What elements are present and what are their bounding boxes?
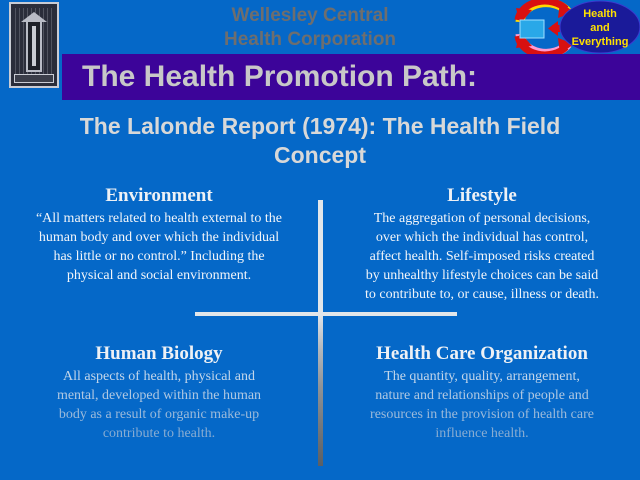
quadrant-body-line: body as a result of organic make-up	[6, 405, 312, 424]
quadrant-body-health-care-organization: The quantity, quality, arrangement, natu…	[330, 367, 634, 443]
slide-canvas: Wellesley Central Health Corporation	[0, 0, 640, 480]
quadrant-title-human-biology: Human Biology	[6, 342, 312, 365]
quadrant-title-environment: Environment	[6, 184, 312, 207]
quadrant-body-human-biology: All aspects of health, physical and ment…	[6, 367, 312, 443]
quadrant-body-line: resources in the provision of health car…	[330, 405, 634, 424]
quadrant-divider-vertical-upper	[318, 200, 323, 316]
slide-title: The Health Promotion Path:	[82, 58, 477, 96]
institutional-crest-icon	[9, 2, 59, 88]
quadrant-divider-vertical-lower	[318, 316, 323, 466]
quadrant-body-line: affect health. Self-imposed risks create…	[330, 247, 634, 266]
quadrant-body-environment: “All matters related to health external …	[6, 209, 312, 285]
quadrant-body-lifestyle: The aggregation of personal decisions, o…	[330, 209, 634, 304]
quadrant-body-line: by unhealthy lifestyle choices can be sa…	[330, 266, 634, 285]
quadrant-body-line: nature and relationships of people and	[330, 386, 634, 405]
crest-banner-shape	[14, 74, 54, 83]
slide-subtitle: The Lalonde Report (1974): The Health Fi…	[18, 112, 622, 170]
organization-name: Wellesley Central Health Corporation	[150, 4, 470, 52]
quadrant-body-line: All aspects of health, physical and	[6, 367, 312, 386]
crest-column-shape	[26, 20, 42, 72]
quadrant-body-line: physical and social environment.	[6, 266, 312, 285]
quadrant-lifestyle: Lifestyle The aggregation of personal de…	[330, 184, 634, 304]
quadrant-body-line: has little or no control.” Including the	[6, 247, 312, 266]
quadrant-body-line: The quantity, quality, arrangement,	[330, 367, 634, 386]
quadrant-body-line: over which the individual has control,	[330, 228, 634, 247]
quadrant-environment: Environment “All matters related to heal…	[6, 184, 312, 285]
quadrant-body-line: contribute to health.	[6, 424, 312, 443]
health-and-everything-logo: Health and Everything	[508, 0, 640, 56]
quadrant-human-biology: Human Biology All aspects of health, phy…	[6, 342, 312, 443]
logo-line-3: Everything	[572, 36, 629, 48]
quadrant-health-care-organization: Health Care Organization The quantity, q…	[330, 342, 634, 443]
quadrant-body-line: mental, developed within the human	[6, 386, 312, 405]
quadrant-body-line: The aggregation of personal decisions,	[330, 209, 634, 228]
quadrant-divider-horizontal	[195, 312, 457, 316]
quadrant-body-line: influence health.	[330, 424, 634, 443]
logo-line-1: Health	[583, 8, 617, 20]
quadrant-body-line: “All matters related to health external …	[6, 209, 312, 228]
logo-line-2: and	[590, 22, 610, 34]
title-bar: The Health Promotion Path:	[62, 54, 640, 100]
quadrant-title-lifestyle: Lifestyle	[330, 184, 634, 207]
quadrant-title-health-care-organization: Health Care Organization	[330, 342, 634, 365]
quadrant-body-line: human body and over which the individual	[6, 228, 312, 247]
quadrant-body-line: to contribute to, or cause, illness or d…	[330, 285, 634, 304]
